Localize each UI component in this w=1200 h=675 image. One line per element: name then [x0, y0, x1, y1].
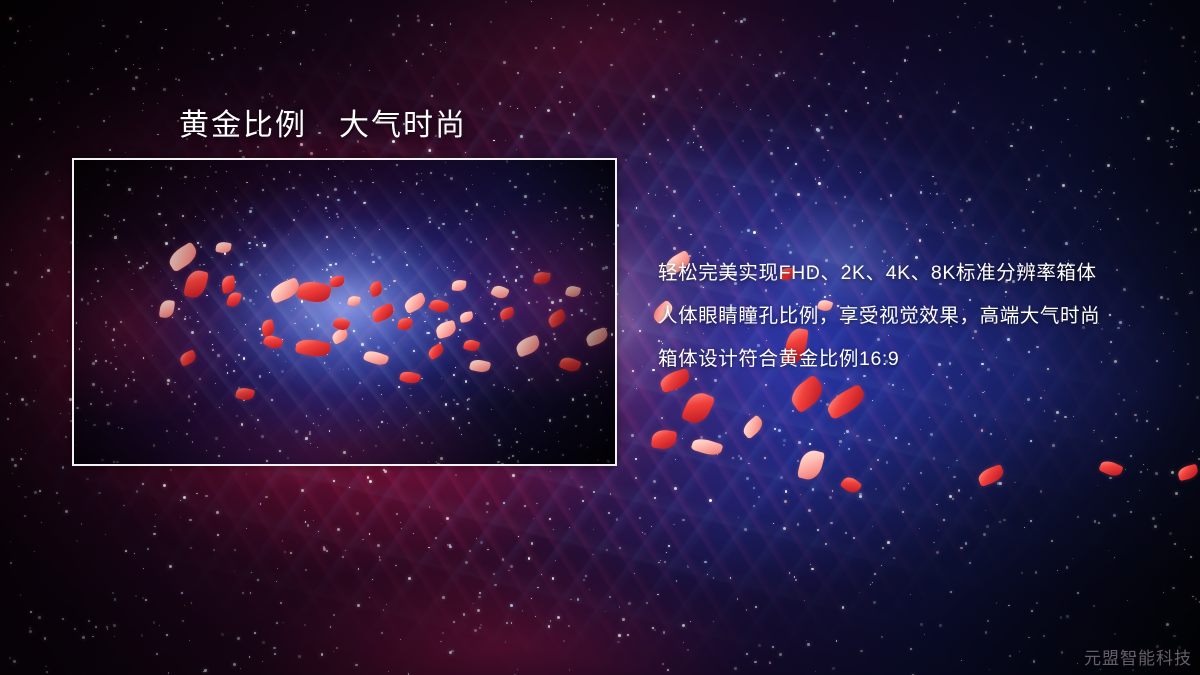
body-line-1: 轻松完美实现FHD、2K、4K、8K标准分辨率箱体	[658, 252, 1178, 295]
watermark-brand: 元盟智能科技	[1084, 644, 1192, 669]
slide-canvas: 黄金比例 大气时尚 轻松完美实现FHD、2K、4K、8K标准分辨率箱体 人体眼睛…	[0, 0, 1200, 675]
photo-vignette	[74, 160, 615, 464]
photo-frame	[72, 158, 617, 466]
body-copy: 轻松完美实现FHD、2K、4K、8K标准分辨率箱体 人体眼睛瞳孔比例，享受视觉效…	[658, 252, 1178, 381]
page-title: 黄金比例 大气时尚	[179, 100, 467, 144]
photo-nebula-image	[74, 160, 615, 464]
body-line-2: 人体眼睛瞳孔比例，享受视觉效果，高端大气时尚	[658, 295, 1178, 338]
body-line-3: 箱体设计符合黄金比例16:9	[658, 338, 1178, 381]
